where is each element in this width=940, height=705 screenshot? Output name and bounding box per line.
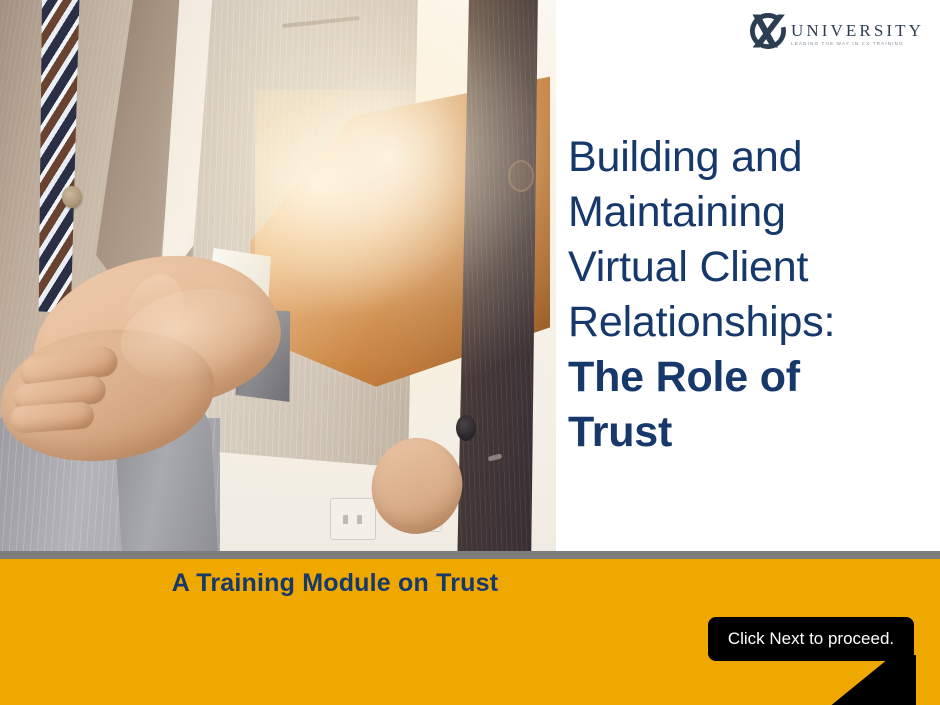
photo-jacket-button bbox=[62, 186, 82, 208]
photo-wall-outlet bbox=[330, 498, 376, 540]
title-line-3: Virtual Client bbox=[568, 240, 928, 295]
logo-tagline-text: LEADING THE WAY IN CX TRAINING bbox=[791, 42, 924, 47]
photo-sleeve-button-top bbox=[508, 160, 534, 192]
hero-photo-handshake bbox=[0, 0, 556, 551]
title-line-2: Maintaining bbox=[568, 185, 928, 240]
title-line-4: Relationships: bbox=[568, 295, 928, 350]
grey-divider bbox=[0, 551, 940, 559]
title-emphasis-line-1: The Role of bbox=[568, 350, 928, 405]
title-line-1: Building and bbox=[568, 130, 928, 185]
brand-logo: UNIVERSITY LEADING THE WAY IN CX TRAININ… bbox=[745, 8, 924, 54]
slide-title: Building and Maintaining Virtual Client … bbox=[568, 130, 928, 460]
logo-university-text: UNIVERSITY bbox=[791, 22, 924, 39]
slide-subtitle: A Training Module on Trust bbox=[0, 569, 940, 598]
title-slide: UNIVERSITY LEADING THE WAY IN CX TRAININ… bbox=[0, 0, 940, 705]
logo-wordmark: UNIVERSITY LEADING THE WAY IN CX TRAININ… bbox=[791, 16, 924, 47]
tooltip-label: Click Next to proceed. bbox=[728, 629, 894, 649]
title-emphasis-line-2: Trust bbox=[568, 405, 928, 460]
xc-monogram-icon bbox=[745, 8, 791, 54]
next-instruction-tooltip: Click Next to proceed. bbox=[708, 617, 914, 661]
photo-sleeve-button-lower bbox=[456, 415, 476, 441]
photo-sunlight-highlight bbox=[255, 90, 485, 320]
